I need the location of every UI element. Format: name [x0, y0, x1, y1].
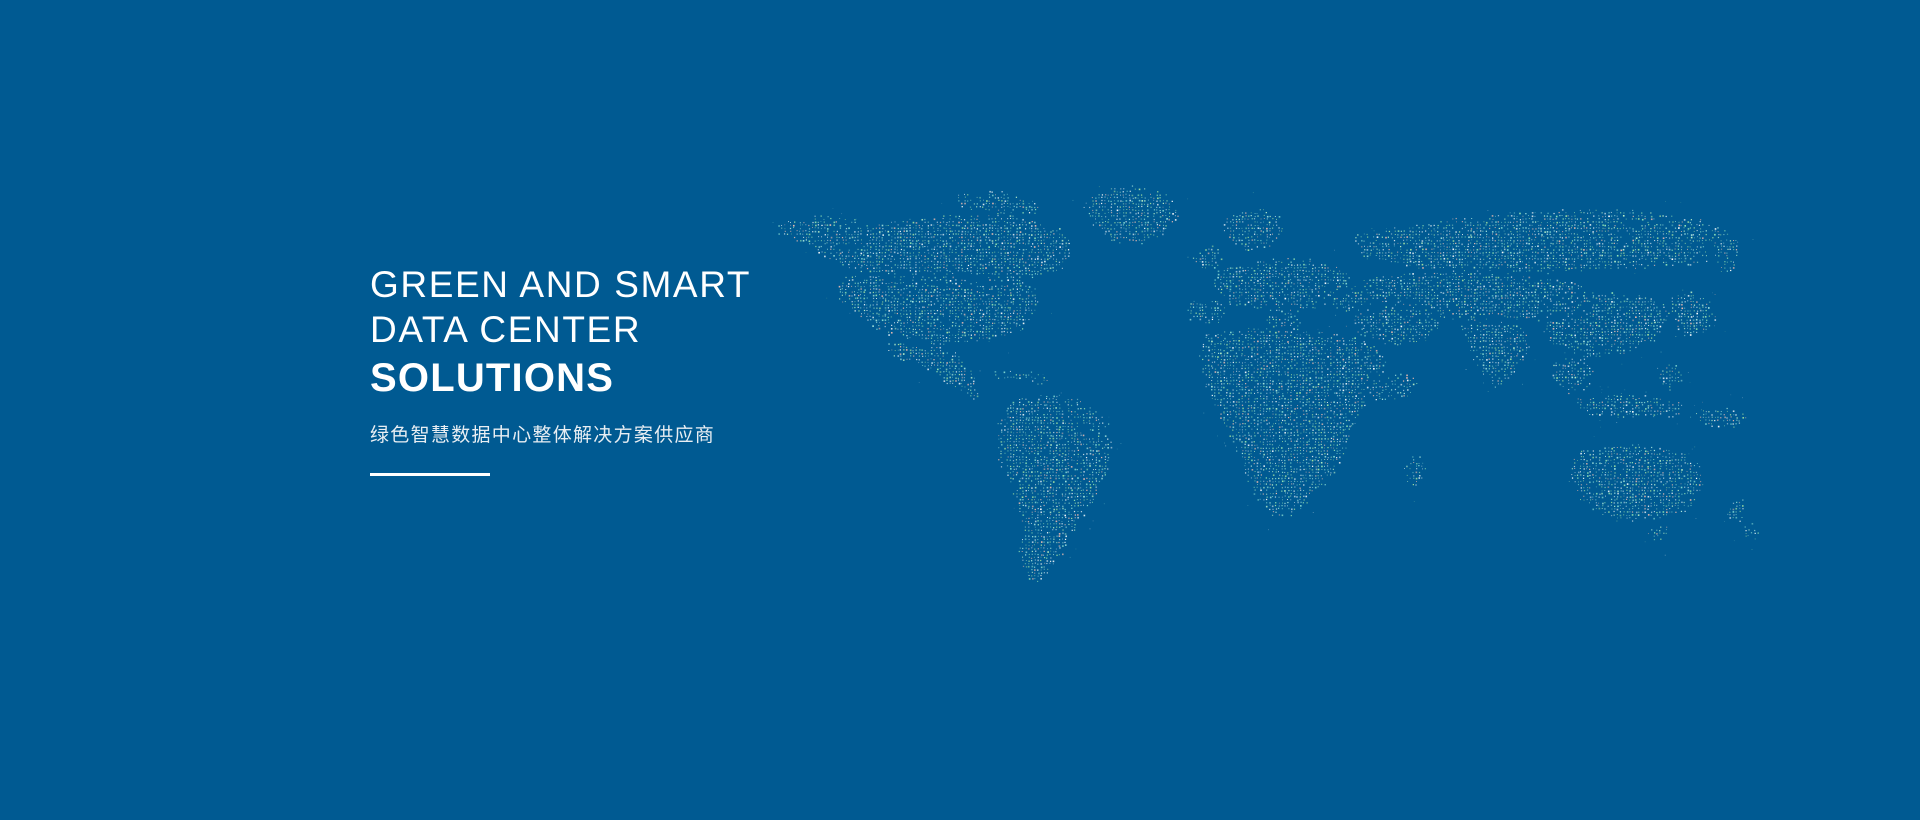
headline-line-2: DATA CENTER [370, 311, 970, 348]
headline-line-3: SOLUTIONS [370, 358, 970, 398]
hero-subtitle: 绿色智慧数据中心整体解决方案供应商 [370, 420, 970, 447]
hero-banner: GREEN AND SMART DATA CENTER SOLUTIONS 绿色… [0, 0, 1920, 820]
hero-text-block: GREEN AND SMART DATA CENTER SOLUTIONS 绿色… [370, 266, 970, 476]
accent-rule-divider [370, 473, 490, 476]
headline-line-1: GREEN AND SMART [370, 266, 970, 303]
